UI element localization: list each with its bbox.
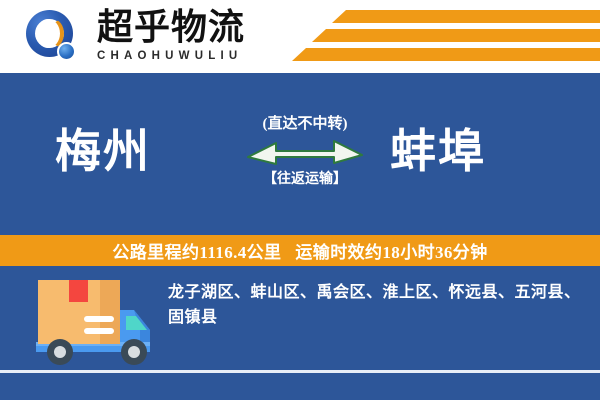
logistics-route-banner: 超乎物流 CHAOHUWULIU 梅州 (直达不中转) 【往返运输】 蚌埠 公路… xyxy=(0,0,600,400)
header-orange-stripes xyxy=(270,0,600,73)
distance-duration-text: 公路里程约1116.4公里 运输时效约18小时36分钟 xyxy=(112,238,487,263)
coverage-section: 龙子湖区、蚌山区、禹会区、淮上区、怀远县、五河县、固镇县 xyxy=(0,266,600,400)
logo-small-blue-dot xyxy=(57,42,76,61)
destination-city-label: 蚌埠 xyxy=(390,125,486,179)
delivery-truck-icon xyxy=(22,274,162,372)
brand-name-chinese: 超乎物流 xyxy=(97,7,245,47)
crescent-circle-logo-icon xyxy=(26,10,82,66)
stripe-2 xyxy=(312,29,600,42)
logo-crescent-cutout xyxy=(36,19,60,48)
covered-districts-list: 龙子湖区、蚌山区、禹会区、淮上区、怀远县、五河县、固镇县 xyxy=(168,280,588,330)
brand-name-pinyin: CHAOHUWULIU xyxy=(97,49,245,63)
stripe-3 xyxy=(292,48,600,61)
origin-city-label: 梅州 xyxy=(55,125,151,179)
distance-duration-bar: 公路里程约1116.4公里 运输时效约18小时36分钟 xyxy=(0,235,600,266)
bidirectional-arrow-icon xyxy=(246,137,364,167)
banner-header: 超乎物流 CHAOHUWULIU xyxy=(0,0,600,73)
road-line xyxy=(0,370,600,373)
round-trip-note: 【往返运输】 xyxy=(230,171,380,189)
stripe-1 xyxy=(332,10,600,23)
route-section: 梅州 (直达不中转) 【往返运输】 蚌埠 xyxy=(0,73,600,235)
direct-shipping-note: (直达不中转) xyxy=(230,115,380,134)
brand-block: 超乎物流 CHAOHUWULIU xyxy=(97,7,245,63)
route-arrow-group: (直达不中转) 【往返运输】 xyxy=(230,115,380,189)
